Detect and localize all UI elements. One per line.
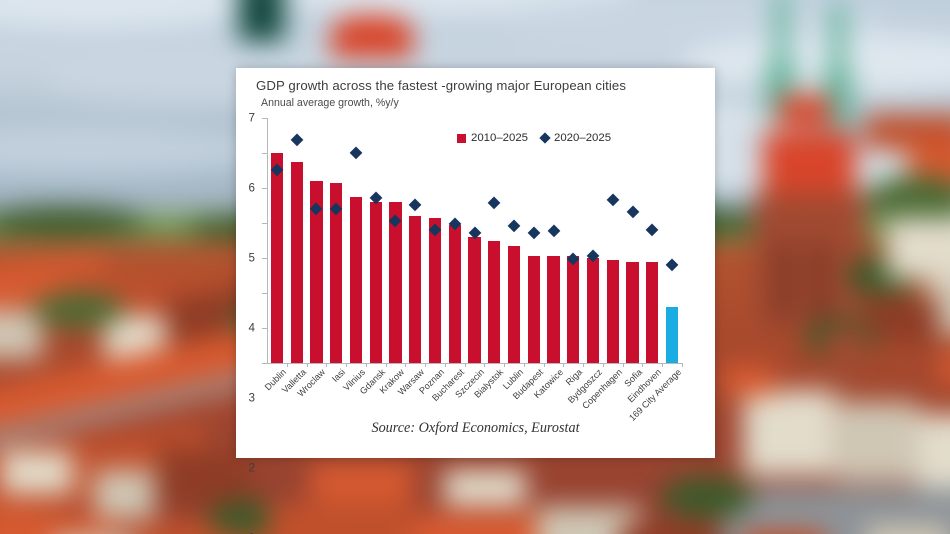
chart-title: GDP growth across the fastest -growing m… <box>256 78 626 93</box>
bar <box>528 256 540 363</box>
bar <box>350 197 362 363</box>
data-marker <box>548 225 560 237</box>
data-marker <box>528 226 540 238</box>
x-axis-tick <box>603 363 604 367</box>
x-axis-tick <box>425 363 426 367</box>
x-axis-tick <box>366 363 367 367</box>
x-axis-line <box>267 363 682 364</box>
x-axis-tick <box>524 363 525 367</box>
y-axis-tick: 7 <box>262 118 267 119</box>
x-axis-tick <box>405 363 406 367</box>
y-axis-tick: 6 <box>262 153 267 154</box>
bar <box>488 241 500 364</box>
data-marker <box>627 205 639 217</box>
y-axis-tick: 1 <box>262 328 267 329</box>
x-axis-tick <box>563 363 564 367</box>
x-axis-tick <box>287 363 288 367</box>
bar <box>567 256 579 363</box>
x-axis-tick <box>346 363 347 367</box>
x-axis-tick <box>465 363 466 367</box>
bar <box>646 262 658 364</box>
bar <box>429 218 441 363</box>
bar <box>626 262 638 364</box>
x-axis-tick <box>504 363 505 367</box>
bar <box>607 260 619 363</box>
y-axis-tick-label: 6 <box>249 182 255 195</box>
x-axis-tick <box>307 363 308 367</box>
y-axis-tick-label: 4 <box>249 322 255 335</box>
chart-panel: GDP growth across the fastest -growing m… <box>236 68 715 458</box>
x-axis-tick <box>662 363 663 367</box>
x-axis-tick <box>544 363 545 367</box>
bar <box>449 225 461 363</box>
bar <box>409 216 421 363</box>
data-marker <box>508 219 520 231</box>
bar <box>291 162 303 363</box>
x-axis-tick <box>445 363 446 367</box>
x-axis-tick <box>326 363 327 367</box>
y-axis-tick: 5 <box>262 188 267 189</box>
x-axis-tick <box>642 363 643 367</box>
data-marker <box>350 146 362 158</box>
data-marker <box>409 198 421 210</box>
x-axis-tick <box>386 363 387 367</box>
y-axis-tick-label: 3 <box>249 392 255 405</box>
y-axis-tick: 0 <box>262 363 267 364</box>
bar <box>547 256 559 363</box>
x-axis-tick <box>583 363 584 367</box>
screenshot-stage: GDP growth across the fastest -growing m… <box>0 0 950 534</box>
bar <box>468 237 480 363</box>
bar <box>508 246 520 363</box>
y-axis-tick-label: 2 <box>249 462 255 475</box>
data-marker <box>291 134 303 146</box>
data-marker <box>488 197 500 209</box>
data-marker <box>607 193 619 205</box>
bar <box>271 153 283 363</box>
y-axis-line <box>267 118 268 363</box>
y-axis-tick-label: 7 <box>249 112 255 125</box>
x-axis-tick <box>484 363 485 367</box>
x-axis-tick <box>682 363 683 367</box>
data-marker <box>646 223 658 235</box>
bar <box>666 307 678 363</box>
chart-source: Source: Oxford Economics, Eurostat <box>236 420 715 437</box>
bar <box>370 202 382 363</box>
y-axis-tick: 2 <box>262 293 267 294</box>
y-axis-tick-label: 5 <box>249 252 255 265</box>
plot-area: 01234567 DublinVallettaWroclawIasiVilniu… <box>267 118 682 363</box>
data-marker <box>666 258 678 270</box>
bar <box>587 258 599 363</box>
y-axis-tick: 3 <box>262 258 267 259</box>
x-axis-tick <box>623 363 624 367</box>
y-axis-tick: 4 <box>262 223 267 224</box>
bar <box>389 202 401 363</box>
chart-subtitle: Annual average growth, %y/y <box>261 97 399 109</box>
